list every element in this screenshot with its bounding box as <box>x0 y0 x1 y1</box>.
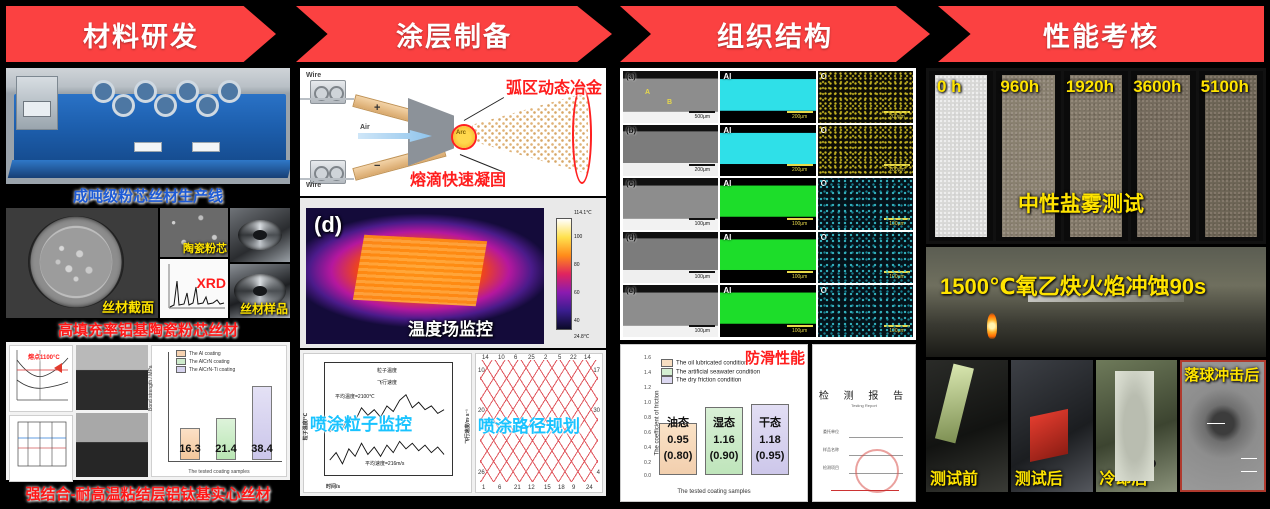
wire-caption: 高填充率铝基陶瓷粉芯丝材 <box>6 318 290 340</box>
bar-alcrn-coating: 21.4 <box>216 418 236 460</box>
bar-seawater-condition: 湿态 1.16 (0.90) <box>705 407 743 475</box>
path-node-number: 26 <box>478 470 485 476</box>
colorbar-tick: 60 <box>574 290 580 296</box>
thermal-imaging-panel: (d) 温度场监控 114.1℃ 100 80 60 40 24.8℃ <box>300 198 606 348</box>
friction-y-axis-label: The coefficient of friction <box>654 391 660 456</box>
arc-metallurgy-label: 弧区动态冶金 <box>506 74 602 98</box>
process-flow-poster: 材料研发 涂层制备 组织结构 性能考核 成吨级粉芯丝材生产线 <box>0 0 1270 509</box>
element-label-o: O <box>821 72 827 81</box>
legend-item: The dry friction condition <box>676 378 741 384</box>
wire-coil-photo-top <box>230 208 290 262</box>
ceramic-powder-label: 陶瓷粉芯 <box>183 240 227 256</box>
element-label-o: O <box>821 179 827 188</box>
friction-bar-group: 油态 0.95 (0.80) 湿态 1.16 (0.90) 干态 1.18 (0… <box>655 391 793 475</box>
wire-ring-shape <box>28 216 124 308</box>
scale-bar: 100μm <box>689 325 715 334</box>
air-label: Air <box>360 124 370 131</box>
interface-sem-images <box>76 345 148 477</box>
roller-icon <box>92 80 115 103</box>
scale-arrow <box>1241 458 1257 459</box>
anti-slip-caption: 防滑性能 <box>745 347 805 368</box>
exposure-time-label: 960h <box>1000 77 1039 97</box>
coil-shape <box>238 220 282 250</box>
path-node-number: 4 <box>597 470 600 476</box>
wire-sample-label: 丝材样品 <box>240 300 288 317</box>
report-field-label: 检测项目 <box>823 465 839 471</box>
y-axis-ticks: 1.6 1.4 1.2 1.0 0.8 0.6 0.4 0.2 0.0 <box>637 355 653 479</box>
panel-tag: (d) <box>626 233 636 242</box>
sample-surface <box>1205 75 1257 237</box>
thermal-colorbar <box>556 218 572 330</box>
eds-row-c: (c) 100μm Al 100μm O 100μm <box>623 178 913 230</box>
control-cabinet <box>16 76 58 130</box>
wire-line-bottom <box>300 178 354 180</box>
y-tick: 0.2 <box>644 460 651 466</box>
wire-label-top: Wire <box>306 72 321 79</box>
photo-caption: 测试后 <box>1015 465 1063 489</box>
eds-row-d: (d) 100μm Al 100μm O 100μm <box>623 232 913 284</box>
element-label-al: Al <box>723 286 731 295</box>
panel-tag: (b) <box>626 126 636 135</box>
photo-caption: 落球冲击后 <box>1184 364 1259 385</box>
bar-value-label: 0.95 <box>660 434 696 446</box>
exposure-time-label: 0 h <box>937 77 962 97</box>
path-node-number: 25 <box>528 355 535 361</box>
panel-tag: (c) <box>626 179 636 188</box>
bonding-layer-caption: 强结合-耐高温粘结层铝钛基实心丝材 <box>6 482 290 504</box>
particle-y2-axis-label: 飞行速度/m·s⁻¹ <box>464 409 471 444</box>
stage-banner-label: 组织结构 <box>717 15 833 54</box>
wire-cross-section-label: 丝材截面 <box>102 297 154 316</box>
element-label-al: Al <box>723 126 731 135</box>
sample-surface <box>1137 75 1189 237</box>
scale-bar: 100μm <box>884 325 910 334</box>
eds-map-al-a: Al 200μm <box>720 71 815 123</box>
path-node-number: 14 <box>482 355 489 361</box>
scale-bar: 200μm <box>884 111 910 120</box>
eds-row-a: (a) A B 500μm Al 200μm O 200μm <box>623 71 913 123</box>
flame-erosion-test-photo: 1500℃氧乙炔火焰冲蚀90s <box>926 247 1266 357</box>
scale-bar: 100μm <box>787 218 813 227</box>
legend-item: The AlCrN coating <box>189 359 230 365</box>
legend-item: The oil lubricated condition <box>676 361 747 367</box>
element-label-o: O <box>821 126 827 135</box>
scale-arrow <box>1207 423 1225 424</box>
eds-map-o-d: O 100μm <box>818 232 913 284</box>
machine-base <box>8 160 290 178</box>
scale-bar: 100μm <box>689 271 715 280</box>
wire-coil-photo-bottom: 丝材样品 <box>230 264 290 318</box>
bse-image-e: (e) 100μm <box>623 285 718 337</box>
bar-value-label: 1.16 <box>706 434 742 446</box>
ceramic-powder-sem: 陶瓷粉芯 <box>160 208 228 257</box>
phase-diagrams: 熔点1100°C <box>9 345 73 477</box>
interface-sem-top <box>76 345 148 410</box>
stage-banner-material-rd[interactable]: 材料研发 <box>6 6 276 62</box>
scale-bar: 100μm <box>884 218 910 227</box>
wire-line-top <box>300 98 354 100</box>
spray-path-planning-chart: 14 10 6 25 2 5 22 14 1 6 21 12 15 18 9 2… <box>475 353 603 493</box>
column-microstructure: (a) A B 500μm Al 200μm O 200μm (b) 200μm <box>620 68 916 504</box>
path-node-number: 9 <box>572 485 575 491</box>
spray-monitoring-row: 粒子温度 飞行速度 平均温度=2100℃ 平均速度=216m/s 时间/s 粒子… <box>300 350 606 496</box>
bond-strength-plot-area: The Al coating The AlCrN coating The AlC… <box>152 346 286 476</box>
x-axis <box>168 461 282 462</box>
path-node-number: 5 <box>558 355 561 361</box>
line-scan-plot <box>9 415 73 482</box>
sample-surface <box>935 75 987 237</box>
path-node-number: 6 <box>514 355 517 361</box>
path-node-number: 24 <box>586 485 593 491</box>
scale-bar: 200μm <box>689 164 715 173</box>
eds-map-al-c: Al 100μm <box>720 178 815 230</box>
xrd-pattern-plot: XRD <box>160 259 228 318</box>
leader-line-top <box>464 97 504 121</box>
colorbar-max-label: 114.1℃ <box>574 210 598 216</box>
photo-caption: 测试前 <box>930 465 978 489</box>
bar-group: 16.3 21.4 38.4 <box>172 376 280 460</box>
stage-banner-coating-prep[interactable]: 涂层制备 <box>296 6 612 62</box>
bar-secondary-value-label: (0.95) <box>752 450 788 462</box>
bar-value-label: 21.4 <box>215 443 236 455</box>
scale-bar: 100μm <box>884 271 910 280</box>
scale-bar: 200μm <box>787 164 813 173</box>
machine-tag <box>192 142 220 152</box>
bar-value-label: 38.4 <box>251 443 272 455</box>
spray-path-caption: 喷涂路径规划 <box>478 412 580 437</box>
bonding-layer-row: 熔点1100°C <box>6 342 290 480</box>
roller-icon <box>196 94 219 117</box>
stage-banner-label: 性能考核 <box>1043 15 1159 54</box>
polarity-negative-label: − <box>374 160 380 172</box>
legend-item: The Al coating <box>189 351 221 357</box>
bar-state-label: 湿态 <box>706 414 742 430</box>
roller-icon <box>218 80 241 103</box>
column-material-rd: 成吨级粉芯丝材生产线 丝材截面 陶瓷粉芯 XRD <box>6 68 290 504</box>
impact-test-photos: 测试前 测试后 冷却后 落球冲击后 <box>926 360 1266 492</box>
bar-secondary-value-label: (0.80) <box>660 450 696 462</box>
exposure-time-label: 5100h <box>1201 77 1249 97</box>
thermal-panel-tag: (d) <box>314 212 342 238</box>
x-axis-label: The tested coating samples <box>152 469 286 475</box>
roller-icon <box>134 80 157 103</box>
eds-map-al-e: Al 100μm <box>720 285 815 337</box>
scale-bar: 200μm <box>884 164 910 173</box>
roller-icon <box>176 80 199 103</box>
bse-image-a: (a) A B 500μm <box>623 71 718 123</box>
solidification-zone-ellipse <box>572 86 592 184</box>
eds-map-o-e: O 100μm <box>818 285 913 337</box>
roller-icon <box>112 94 135 117</box>
wire-label-bottom: Wire <box>306 182 321 189</box>
xrd-label: XRD <box>196 275 226 291</box>
stage-banner-performance[interactable]: 性能考核 <box>938 6 1264 62</box>
thermal-caption: 温度场监控 <box>408 315 493 340</box>
path-node-number: 1 <box>482 485 485 491</box>
y-axis-label: Bond strength / MPa <box>148 365 154 411</box>
friction-x-axis-label: The tested coating samples <box>621 489 807 495</box>
report-footer-rule <box>831 490 899 491</box>
salt-spray-sample: 0 h <box>929 71 993 241</box>
wire-feeder-bottom <box>310 160 346 184</box>
eds-map-o-c: O 100μm <box>818 178 913 230</box>
bse-image-b: (b) 200μm <box>623 125 718 177</box>
report-field-label: 样品名称 <box>823 447 839 453</box>
bse-image-d: (d) 100μm <box>623 232 718 284</box>
bar-oil-condition: 油态 0.95 (0.80) <box>659 423 697 475</box>
y-tick: 0.6 <box>644 430 651 436</box>
sem-eds-montage: (a) A B 500μm Al 200μm O 200μm (b) 200μm <box>620 68 916 340</box>
exposure-time-label: 3600h <box>1133 77 1181 97</box>
annotation-average-temperature: 平均温度=2100℃ <box>335 393 375 400</box>
after-cooling-photo: 冷却后 <box>1096 360 1178 492</box>
ball-impact-photo: 落球冲击后 <box>1180 360 1266 492</box>
path-node-number: 12 <box>528 485 535 491</box>
friction-coefficient-chart: 防滑性能 1.6 1.4 1.2 1.0 0.8 0.6 0.4 0.2 0.0… <box>620 344 808 502</box>
y-tick: 1.4 <box>644 370 651 376</box>
y-tick: 1.6 <box>644 355 651 361</box>
salt-spray-sample: 5100h <box>1199 71 1263 241</box>
control-screen <box>23 101 51 117</box>
column-performance: 0 h 960h 1920h 3600h 5100h 中性盐雾测试 1500℃ <box>926 68 1266 504</box>
bar-al-coating: 16.3 <box>180 428 200 460</box>
colorbar-tick: 40 <box>574 318 580 324</box>
arc-spray-schematic: Wire Wire Air + − Arc 弧区动态冶金 熔滴快速凝固 <box>300 68 606 196</box>
path-node-number: 6 <box>498 485 501 491</box>
interface-sem-bottom <box>76 413 148 478</box>
production-line-photo <box>6 68 290 184</box>
y-axis <box>168 352 169 462</box>
wire-characterization-row: 丝材截面 陶瓷粉芯 XRD <box>6 208 290 318</box>
y-tick: 1.2 <box>644 385 651 391</box>
path-node-number: 14 <box>584 355 591 361</box>
exposure-time-label: 1920h <box>1066 77 1114 97</box>
phase-diagram: 熔点1100°C <box>9 345 73 412</box>
powder-and-xrd: 陶瓷粉芯 XRD <box>160 208 228 318</box>
legend-flight-velocity: 飞行速度 <box>377 379 397 386</box>
path-node-number: 10 <box>478 368 485 374</box>
column-coating-prep: Wire Wire Air + − Arc 弧区动态冶金 熔滴快速凝固 (d) … <box>300 68 606 504</box>
droplet-solidification-label: 熔滴快速凝固 <box>410 166 506 190</box>
legend-item: The AlCrN-Ti coating <box>189 366 235 372</box>
photo-caption: 冷却后 <box>1100 465 1148 489</box>
scale-bar: 100μm <box>787 325 813 334</box>
bar-state-label: 干态 <box>752 414 788 430</box>
legend-particle-temperature: 粒子温度 <box>377 367 397 374</box>
report-title: 检 测 报 告 <box>813 387 915 402</box>
polarity-positive-label: + <box>374 102 380 114</box>
bond-strength-chart: The Al coating The AlCrN coating The AlC… <box>151 345 287 477</box>
report-subtitle: Testing Report <box>813 403 915 408</box>
particle-monitoring-caption: 喷涂粒子监控 <box>310 410 412 435</box>
thermal-colorbar-ticks: 114.1℃ 100 80 60 40 24.8℃ <box>574 210 600 338</box>
scale-bar: 100μm <box>689 218 715 227</box>
eds-map-o-b: O 200μm <box>818 125 913 177</box>
phase-note-label: 熔点1100°C <box>28 352 60 361</box>
point-b-marker: B <box>667 99 672 106</box>
test-report-document: 检 测 报 告 Testing Report 委托单位 样品名称 检测项目 <box>812 344 916 502</box>
salt-spray-caption: 中性盐雾测试 <box>1018 188 1144 218</box>
eds-row-b: (b) 200μm Al 200μm O 200μm <box>623 125 913 177</box>
sample-hole <box>1147 459 1156 468</box>
colorbar-min-label: 24.8℃ <box>574 334 598 340</box>
bar-value-label: 1.18 <box>752 434 788 446</box>
particle-monitoring-chart: 粒子温度 飞行速度 平均温度=2100℃ 平均速度=216m/s 时间/s 粒子… <box>303 353 472 493</box>
path-node-number: 30 <box>593 408 600 414</box>
wire-samples-photos: 丝材样品 <box>230 208 290 318</box>
bar-alcrn-ti-coating: 38.4 <box>252 386 272 460</box>
production-line-caption: 成吨级粉芯丝材生产线 <box>6 184 290 206</box>
element-label-al: Al <box>723 233 731 242</box>
salt-spray-test-panel: 0 h 960h 1920h 3600h 5100h 中性盐雾测试 <box>926 68 1266 244</box>
wire-feeder-top <box>310 80 346 104</box>
particle-y-axis-label: 粒子温度/℃ <box>302 413 309 440</box>
stage-banner-label: 材料研发 <box>83 15 199 54</box>
path-node-number: 18 <box>558 485 565 491</box>
panel-tag: (a) <box>626 72 636 81</box>
line-scan-curve <box>10 416 72 476</box>
eds-row-e: (e) 100μm Al 100μm O 100μm <box>623 285 913 337</box>
wire-cross-section-sem: 丝材截面 <box>6 208 158 318</box>
roller-icon <box>154 94 177 117</box>
path-node-number: 2 <box>544 355 547 361</box>
eds-map-o-a: O 200μm <box>818 71 913 123</box>
annotation-average-velocity: 平均速度=216m/s <box>365 460 404 467</box>
flame-erosion-caption: 1500℃氧乙炔火焰冲蚀90s <box>940 269 1206 301</box>
scale-bar: 200μm <box>787 111 813 120</box>
official-seal-stamp <box>855 449 899 493</box>
after-test-photo: 测试后 <box>1011 360 1093 492</box>
bar-secondary-value-label: (0.90) <box>706 450 742 462</box>
point-a-marker: A <box>645 89 650 96</box>
path-node-number: 10 <box>498 355 505 361</box>
friction-and-certificate-row: 防滑性能 1.6 1.4 1.2 1.0 0.8 0.6 0.4 0.2 0.0… <box>620 344 916 502</box>
path-node-number: 17 <box>593 368 600 374</box>
scale-bar: 100μm <box>787 271 813 280</box>
bar-state-label: 油态 <box>660 414 696 430</box>
colorbar-tick: 80 <box>574 262 580 268</box>
sample-hole <box>1120 459 1129 468</box>
report-field-label: 委托单位 <box>823 429 839 435</box>
bar-dry-condition: 干态 1.18 (0.95) <box>751 404 789 475</box>
bse-image-c: (c) 100μm <box>623 178 718 230</box>
machine-tag <box>134 142 162 152</box>
y-tick: 0.4 <box>644 445 651 451</box>
report-field-rule <box>849 437 903 438</box>
element-label-o: O <box>821 233 827 242</box>
path-node-number: 21 <box>514 485 521 491</box>
thermal-hot-slab <box>353 235 487 307</box>
colorbar-tick: 100 <box>574 234 582 240</box>
stage-banner-microstructure[interactable]: 组织结构 <box>620 6 930 62</box>
stage-banner-label: 涂层制备 <box>396 15 512 54</box>
chart-legend: The Al coating The AlCrN coating The AlC… <box>176 350 235 373</box>
y-tick: 1.0 <box>644 400 651 406</box>
y-tick: 0.8 <box>644 415 651 421</box>
element-label-o: O <box>821 286 827 295</box>
y-tick: 0.0 <box>644 473 651 479</box>
path-node-number: 15 <box>544 485 551 491</box>
eds-map-al-d: Al 100μm <box>720 232 815 284</box>
scale-bar: 500μm <box>689 111 715 120</box>
particle-x-axis-label: 时间/s <box>326 483 340 490</box>
element-label-al: Al <box>723 72 731 81</box>
bar-value-label: 16.3 <box>179 443 200 455</box>
before-test-photo: 测试前 <box>926 360 1008 492</box>
eds-map-al-b: Al 200μm <box>720 125 815 177</box>
scale-arrow <box>1241 471 1257 472</box>
path-node-number: 22 <box>570 355 577 361</box>
panel-tag: (e) <box>626 286 636 295</box>
legend-item: The artificial seawater condition <box>676 369 760 375</box>
element-label-al: Al <box>723 179 731 188</box>
arc-core-label: Arc <box>456 130 466 136</box>
